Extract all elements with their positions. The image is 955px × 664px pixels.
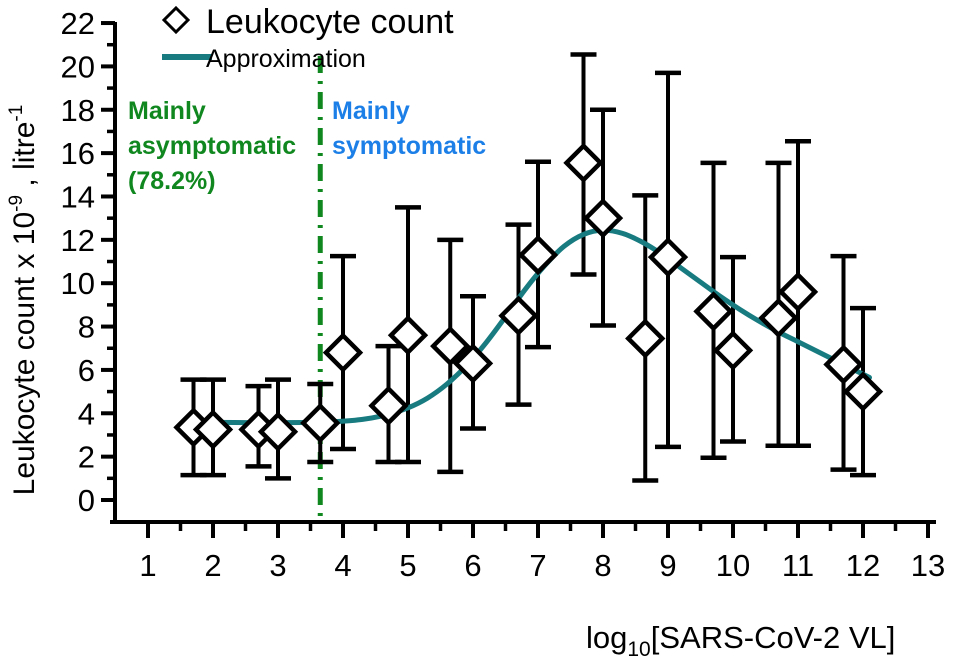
leukocyte-scatter-chart: 024681012141618202212345678910111213Leuk… <box>0 0 955 664</box>
x-tick-label: 7 <box>529 548 546 583</box>
symptomatic-annotation-line: Mainly <box>332 97 410 125</box>
y-tick-label: 8 <box>78 310 95 345</box>
x-tick-label: 6 <box>464 548 481 583</box>
y-tick-label: 16 <box>61 136 95 171</box>
asymptomatic-annotation-line: asymptomatic <box>128 132 296 160</box>
x-tick-label: 3 <box>269 548 286 583</box>
y-axis-title: Leukocyte count x 10-9 , litre-1 <box>6 105 41 496</box>
y-tick-label: 6 <box>78 353 95 388</box>
x-tick-label: 10 <box>716 548 750 583</box>
x-tick-label: 9 <box>659 548 676 583</box>
x-tick-label: 4 <box>334 548 351 583</box>
x-tick-label: 13 <box>911 548 945 583</box>
asymptomatic-annotation-line: Mainly <box>128 97 206 125</box>
y-tick-label: 2 <box>78 440 95 475</box>
y-tick-label: 4 <box>78 396 95 431</box>
x-tick-label: 8 <box>594 548 611 583</box>
y-tick-label: 12 <box>61 223 95 258</box>
symptomatic-annotation-line: symptomatic <box>332 132 486 160</box>
x-tick-label: 5 <box>399 548 416 583</box>
svg-text:Leukocyte count x 10-9 , litre: Leukocyte count x 10-9 , litre-1 <box>6 105 41 496</box>
x-tick-label: 11 <box>782 548 814 583</box>
x-tick-label: 2 <box>204 548 221 583</box>
y-tick-label: 20 <box>61 49 95 84</box>
x-tick-label: 1 <box>139 548 156 583</box>
asymptomatic-annotation-line: (78.2%) <box>128 167 216 195</box>
y-tick-label: 22 <box>61 6 95 41</box>
y-tick-label: 18 <box>61 93 95 128</box>
y-tick-label: 14 <box>61 179 95 214</box>
legend-label-approximation: Approximation <box>206 45 366 73</box>
legend-label-leukocyte-count: Leukocyte count <box>206 3 454 41</box>
y-tick-label: 10 <box>61 266 95 301</box>
figure-root: 024681012141618202212345678910111213Leuk… <box>0 0 955 664</box>
y-tick-label: 0 <box>78 483 95 518</box>
x-tick-label: 12 <box>846 548 880 583</box>
